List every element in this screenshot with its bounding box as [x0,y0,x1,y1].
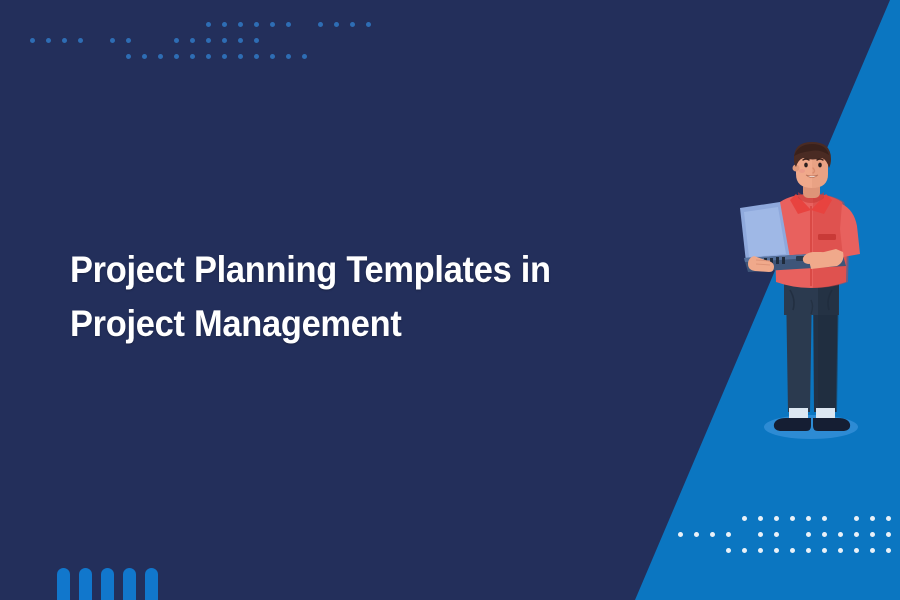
dot [822,532,827,537]
dot [222,38,227,43]
dot [758,532,763,537]
dot [726,532,731,537]
dot [350,22,355,27]
bar-group-bottom-left [57,568,158,600]
dot [774,516,779,521]
dot [806,548,811,553]
dot [142,54,147,59]
dot [78,38,83,43]
dot [838,532,843,537]
dot [190,54,195,59]
dot [206,38,211,43]
dot [822,548,827,553]
dot [254,38,259,43]
dot [854,516,859,521]
dot [806,516,811,521]
dot [334,22,339,27]
dot [366,22,371,27]
dot [286,54,291,59]
shoe-right [813,418,850,431]
dot [806,532,811,537]
laptop-key-4 [782,257,785,264]
dot [886,548,891,553]
dot [742,548,747,553]
bar [79,568,92,600]
dot [110,38,115,43]
dot [254,22,259,27]
dot [238,38,243,43]
eye-left [804,163,808,168]
dot [222,54,227,59]
dot [886,532,891,537]
dot [742,516,747,521]
dot [758,516,763,521]
dot [158,54,163,59]
dot [774,548,779,553]
dot [222,22,227,27]
dot [838,548,843,553]
laptop-key-3 [776,257,779,264]
dot [190,38,195,43]
dot [694,532,699,537]
page-title: Project Planning Templates in Project Ma… [70,243,572,351]
dot [710,532,715,537]
dot [46,38,51,43]
arm-right-sleeve [840,204,860,257]
dot [206,54,211,59]
bar [57,568,70,600]
dot [790,516,795,521]
dot [302,54,307,59]
dot [286,22,291,27]
dot [174,38,179,43]
dot [270,54,275,59]
dot [870,532,875,537]
dot [238,22,243,27]
shirt-chest-pocket [818,234,836,240]
dot [126,38,131,43]
dot [854,548,859,553]
shoe-left [774,418,811,431]
cheek-blush [799,169,805,173]
dot [854,532,859,537]
dot [174,54,179,59]
bar [101,568,114,600]
eye-right [818,163,822,168]
dot [774,532,779,537]
dot [126,54,131,59]
dot [206,22,211,27]
dot [238,54,243,59]
dot [270,22,275,27]
dot [870,516,875,521]
dot [790,548,795,553]
person-with-laptop-illustration [718,140,898,450]
dot [30,38,35,43]
dot [254,54,259,59]
dot [870,548,875,553]
dot [318,22,323,27]
banner-root: Project Planning Templates in Project Ma… [0,0,900,600]
dot [678,532,683,537]
dot [62,38,67,43]
dot [886,516,891,521]
dot [822,516,827,521]
dot [726,548,731,553]
dot [758,548,763,553]
bar [145,568,158,600]
bar [123,568,136,600]
